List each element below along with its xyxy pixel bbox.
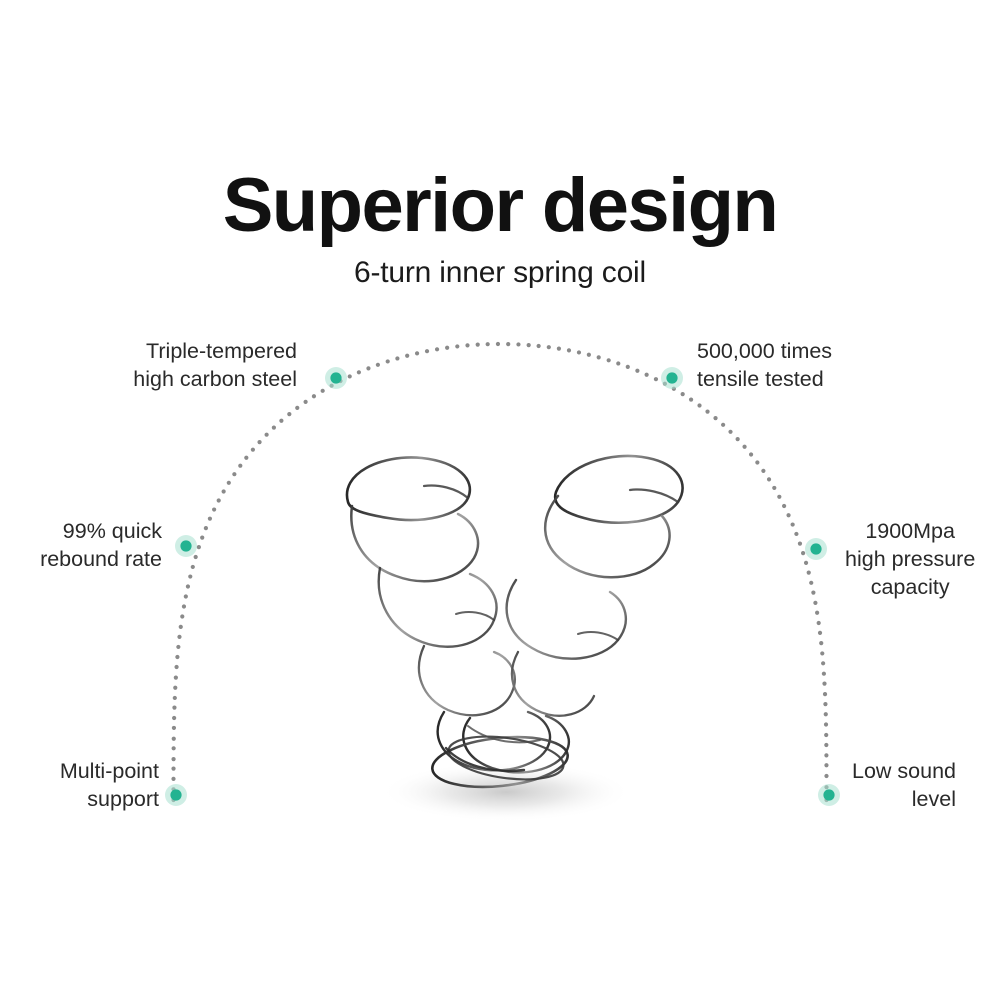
arc-dot <box>824 722 828 726</box>
arc-dot <box>506 342 510 346</box>
marker-dot-multi-point-support <box>170 789 181 800</box>
arc-dot <box>824 753 828 757</box>
arc-dot <box>824 733 828 737</box>
arc-dot <box>197 545 201 549</box>
dotted-arc-layer <box>0 0 1000 1000</box>
arc-dot <box>425 349 429 353</box>
arc-dot <box>822 682 826 686</box>
arc-dot <box>820 651 824 655</box>
arc-dot <box>811 591 815 595</box>
arc-dot <box>547 345 551 349</box>
callout-line: high pressure <box>845 546 975 574</box>
arc-dot <box>817 621 821 625</box>
arc-dot <box>824 743 828 747</box>
arc-dot <box>713 416 717 420</box>
arc-dot <box>172 737 176 741</box>
arc-dot <box>173 696 177 700</box>
arc-dot <box>577 350 581 354</box>
callout-line: 1900Mpa <box>845 518 975 546</box>
arc-dot <box>188 574 192 578</box>
callout-pressure-capacity: 1900Mpa high pressure capacity <box>845 518 975 602</box>
arc-dot <box>567 348 571 352</box>
marker-dot-rebound-rate <box>180 540 191 551</box>
arc-dot <box>386 359 390 363</box>
arc-dot <box>208 517 212 521</box>
arc-dot <box>755 460 759 464</box>
callout-rebound-rate: 99% quick rebound rate <box>40 518 162 574</box>
arc-dot <box>172 716 176 720</box>
arc-dot <box>312 394 316 398</box>
arc-dot <box>807 571 811 575</box>
callout-line: high carbon steel <box>133 366 297 394</box>
callout-line: Multi-point <box>60 758 159 786</box>
callout-line: rebound rate <box>40 546 162 574</box>
arc-dot <box>819 641 823 645</box>
marker-dot-tensile-tested <box>666 372 677 383</box>
arc-dot <box>777 495 781 499</box>
marker-dot-triple-tempered <box>330 372 341 383</box>
arc-dot <box>265 433 269 437</box>
arc-dot <box>171 767 175 771</box>
arc-dot <box>681 392 685 396</box>
arc-dot <box>815 611 819 615</box>
callout-line: support <box>60 786 159 814</box>
arc-dot <box>626 365 630 369</box>
arc-dot <box>272 425 276 429</box>
arc-dot <box>204 526 208 530</box>
arc-dot <box>445 346 449 350</box>
arc-dot <box>257 440 261 444</box>
marker-dot-low-sound-level <box>823 789 834 800</box>
arc-dot <box>174 665 178 669</box>
arc-dot <box>557 347 561 351</box>
arc-dot <box>405 354 409 358</box>
arc-dot <box>537 344 541 348</box>
arc-dot <box>824 712 828 716</box>
arc-dot <box>486 342 490 346</box>
arc-dot <box>321 389 325 393</box>
arc-dot <box>222 489 226 493</box>
arc-dot <box>174 676 178 680</box>
arc-dot <box>705 409 709 413</box>
arc-dot <box>823 702 827 706</box>
arc-dot <box>749 452 753 456</box>
arc-dot <box>767 477 771 481</box>
callout-tensile-tested: 500,000 times tensile tested <box>697 338 832 394</box>
arc-dot <box>786 513 790 517</box>
arc-dot <box>180 614 184 618</box>
arc-dot <box>798 542 802 546</box>
arc-dot <box>654 377 658 381</box>
arc-dot <box>395 356 399 360</box>
callout-line: capacity <box>845 574 975 602</box>
arc-dot <box>175 655 179 659</box>
callout-line: 99% quick <box>40 518 162 546</box>
arc-dot <box>496 342 500 346</box>
arc-dot <box>251 448 255 452</box>
arc-dot <box>287 412 291 416</box>
arc-dot <box>415 351 419 355</box>
arc-dot <box>217 498 221 502</box>
callout-low-sound-level: Low sound level <box>852 758 956 814</box>
arc-dot <box>348 374 352 378</box>
arc-dot <box>804 561 808 565</box>
arc-dot <box>587 353 591 357</box>
arc-dot <box>238 464 242 468</box>
dotted-arc-path <box>171 342 828 802</box>
arc-dot <box>172 706 176 710</box>
arc-dot <box>357 370 361 374</box>
arc-dot <box>801 551 805 555</box>
arc-dot <box>772 486 776 490</box>
arc-dot <box>824 763 828 767</box>
arc-dot <box>191 565 195 569</box>
arc-dot <box>200 536 204 540</box>
callout-multi-point-support: Multi-point support <box>60 758 159 814</box>
arc-dot <box>782 504 786 508</box>
arc-dot <box>645 373 649 377</box>
arc-dot <box>194 555 198 559</box>
callout-triple-tempered: Triple-tempered high carbon steel <box>133 338 297 394</box>
arc-dot <box>182 604 186 608</box>
arc-dot <box>607 358 611 362</box>
arc-dot <box>516 342 520 346</box>
arc-dot <box>232 472 236 476</box>
arc-dot <box>171 757 175 761</box>
arc-dot <box>366 366 370 370</box>
arc-dot <box>794 532 798 536</box>
arc-dot <box>476 343 480 347</box>
arc-dot <box>697 403 701 407</box>
arc-dot <box>184 594 188 598</box>
arc-dot <box>171 777 175 781</box>
arc-dot <box>227 481 231 485</box>
infographic-canvas: Superior design 6-turn inner spring coil <box>0 0 1000 1000</box>
callout-line: tensile tested <box>697 366 832 394</box>
arc-dot <box>809 581 813 585</box>
callout-line: Low sound <box>852 758 956 786</box>
arc-dot <box>304 400 308 404</box>
arc-dot <box>721 423 725 427</box>
arc-dot <box>186 584 190 588</box>
arc-dot <box>689 397 693 401</box>
arc-dot <box>736 437 740 441</box>
callout-line: 500,000 times <box>697 338 832 366</box>
arc-dot <box>597 355 601 359</box>
arc-dot <box>527 343 531 347</box>
arc-dot <box>635 369 639 373</box>
arc-dot <box>295 406 299 410</box>
callout-line: Triple-tempered <box>133 338 297 366</box>
marker-dot-pressure-capacity <box>810 543 821 554</box>
callout-line: level <box>852 786 956 814</box>
arc-dot <box>177 635 181 639</box>
arc-dot <box>455 344 459 348</box>
arc-dot <box>212 507 216 511</box>
arc-dot <box>822 672 826 676</box>
arc-dot <box>742 445 746 449</box>
arc-dot <box>465 343 469 347</box>
arc-dot <box>821 661 825 665</box>
arc-dot <box>813 601 817 605</box>
arc-dot <box>791 522 795 526</box>
arc-dot <box>761 469 765 473</box>
arc-dot <box>179 625 183 629</box>
arc-dot <box>824 774 828 778</box>
arc-dot <box>616 361 620 365</box>
arc-dot <box>172 746 176 750</box>
arc-dot <box>728 430 732 434</box>
arc-dot <box>172 726 176 730</box>
arc-dot <box>818 631 822 635</box>
arc-dot <box>823 692 827 696</box>
arc-dot <box>435 347 439 351</box>
arc-dot <box>244 456 248 460</box>
arc-dot <box>279 419 283 423</box>
arc-dot <box>376 363 380 367</box>
arc-dot <box>173 686 177 690</box>
arc-dot <box>176 645 180 649</box>
